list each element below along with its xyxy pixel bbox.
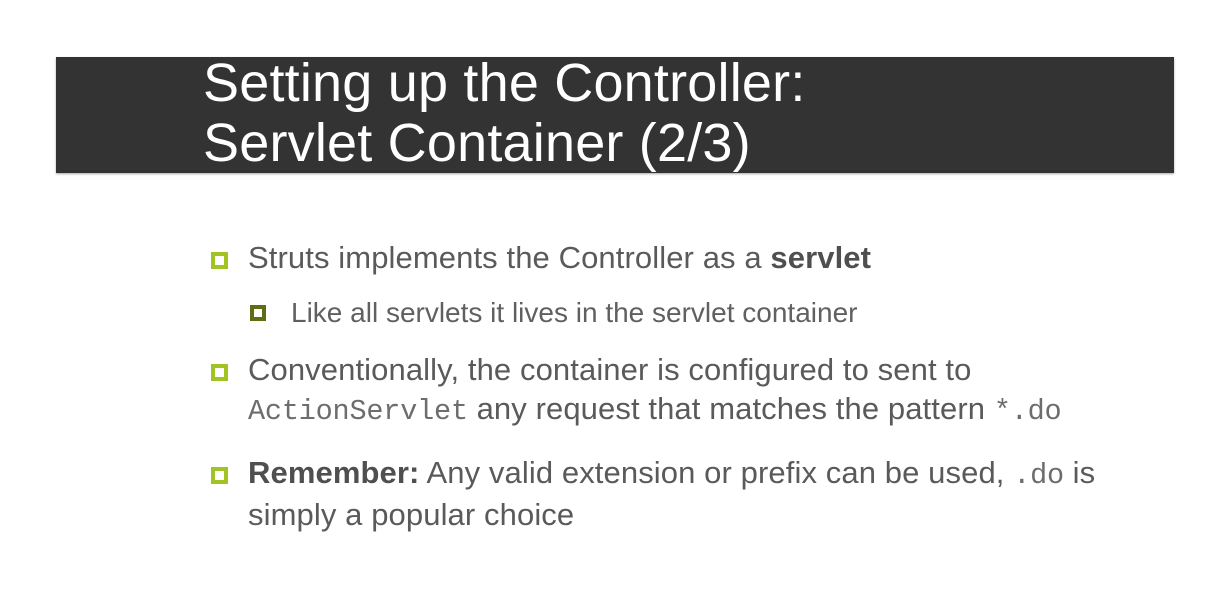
bullet-text: Struts implements the Controller as a se…: [248, 238, 1146, 277]
bullet-item: Conventionally, the container is configu…: [0, 350, 1206, 431]
bullet-item: Like all servlets it lives in the servle…: [0, 295, 1206, 330]
bullet-text-segment: Remember:: [248, 455, 419, 490]
bullet-text-segment: .do: [1013, 459, 1064, 492]
hollow-square-bullet-icon: [211, 364, 228, 381]
bullet-text: Like all servlets it lives in the servle…: [291, 295, 1146, 330]
bullet-text: Conventionally, the container is configu…: [248, 350, 1146, 431]
bullet-text: Remember: Any valid extension or prefix …: [248, 453, 1146, 534]
bullet-text-segment: any request that matches the pattern: [468, 391, 994, 426]
bullet-text-segment: Struts implements the Controller as a: [248, 240, 770, 275]
slide-body: Struts implements the Controller as a se…: [0, 238, 1206, 556]
slide-title: Setting up the Controller: Servlet Conta…: [203, 57, 806, 173]
hollow-square-bullet-icon: [211, 467, 228, 484]
hollow-square-bullet-icon: [211, 252, 228, 269]
bullet-item: Remember: Any valid extension or prefix …: [0, 453, 1206, 534]
bullet-text-segment: servlet: [770, 240, 871, 275]
bullet-item: Struts implements the Controller as a se…: [0, 238, 1206, 277]
bullet-text-segment: ActionServlet: [248, 395, 468, 428]
bullet-text-segment: Any valid extension or prefix can be use…: [419, 455, 1013, 490]
slide: Setting up the Controller: Servlet Conta…: [0, 0, 1206, 606]
bullet-text-segment: *.do: [994, 395, 1062, 428]
bullet-text-segment: Like all servlets it lives in the servle…: [291, 297, 857, 328]
slide-title-banner: Setting up the Controller: Servlet Conta…: [56, 57, 1174, 173]
hollow-square-bullet-icon: [250, 305, 266, 321]
bullet-text-segment: Conventionally, the container is configu…: [248, 352, 971, 387]
